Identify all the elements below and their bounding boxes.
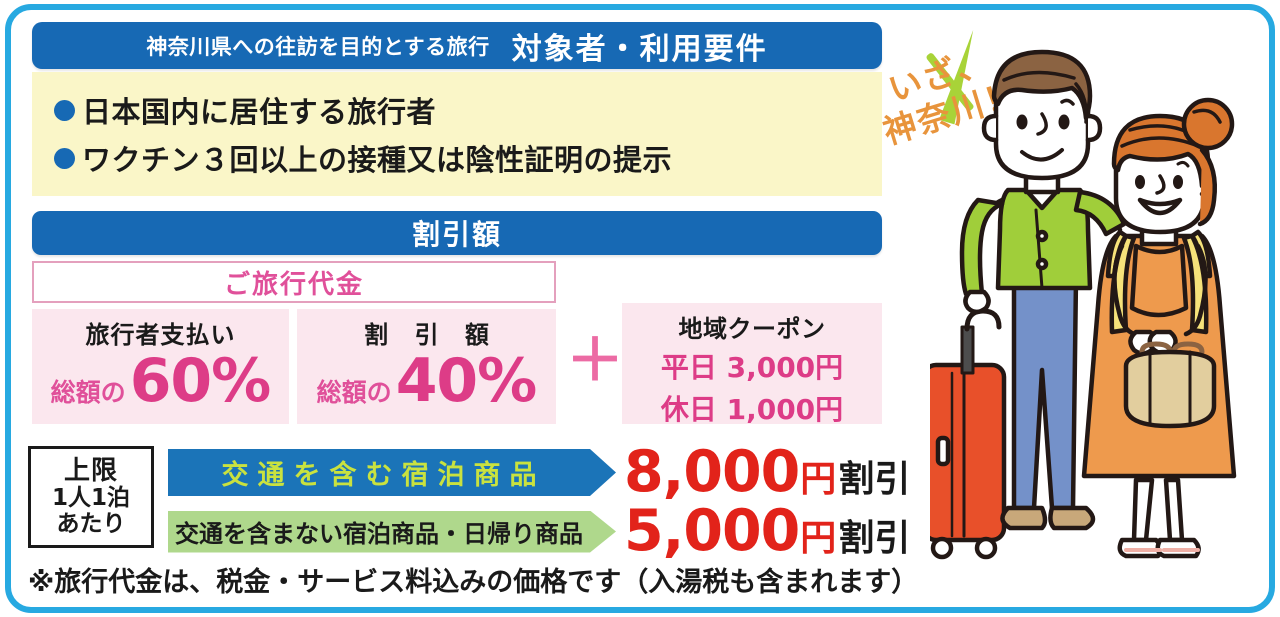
- offer-currency: 円: [800, 462, 836, 498]
- offer-price-with-transport: 8,000 円 割引: [624, 444, 910, 501]
- offer-amount: 8,000: [624, 444, 799, 501]
- handbag-icon: [1126, 344, 1214, 426]
- coupon-weekday-label: 平日: [661, 351, 717, 384]
- offer-row-with-transport: 交通を含む宿泊商品 8,000 円 割引: [168, 444, 910, 501]
- traveler-payment-percent: 60%: [130, 351, 271, 411]
- requirement-label: ワクチン３回以上の接種又は陰性証明の提示: [82, 137, 672, 179]
- footnote-text: ※旅行代金は、税金・サービス料込みの価格です（入湯税も含まれます）: [28, 560, 918, 599]
- suitcase-icon: [930, 311, 1004, 557]
- requirement-item: 日本国内に居住する旅行者: [54, 86, 882, 134]
- requirement-item: ワクチン３回以上の接種又は陰性証明の提示: [54, 134, 882, 182]
- discount-amount-value: 総額の 40%: [317, 351, 537, 411]
- content-column: 神奈川県への往訪を目的とする旅行 対象者・利用要件 日本国内に居住する旅行者 ワ…: [0, 0, 910, 617]
- discount-amount-title: 割 引 額: [355, 315, 498, 350]
- offer-banner-with-transport: 交通を含む宿泊商品: [168, 449, 616, 496]
- regional-coupon-panel: 地域クーポン 平日 3,000円 休日 1,000円: [622, 303, 882, 424]
- requirements-box: 日本国内に居住する旅行者 ワクチン３回以上の接種又は陰性証明の提示: [32, 72, 882, 196]
- cap-line-2: 1人1泊: [52, 486, 130, 512]
- discount-section-bar: 割引額: [32, 211, 882, 255]
- plus-icon: ＋: [566, 340, 612, 386]
- coupon-weekday-row: 平日 3,000円: [661, 346, 843, 386]
- traveler-payment-value: 総額の 60%: [51, 351, 271, 411]
- header-subtitle: 神奈川県への往訪を目的とする旅行: [146, 31, 489, 61]
- offer-row-without-transport: 交通を含まない宿泊商品・日帰り商品 5,000 円 割引: [168, 503, 910, 560]
- offer-banner-without-transport: 交通を含まない宿泊商品・日帰り商品: [168, 511, 616, 553]
- coupon-holiday-row: 休日 1,000円: [661, 388, 843, 428]
- coupon-weekday-amount: 3,000円: [727, 351, 844, 384]
- offer-amount: 5,000: [624, 503, 799, 560]
- offer-suffix: 割引: [838, 521, 910, 557]
- traveler-payment-panel: 旅行者支払い 総額の 60%: [32, 309, 289, 424]
- coupon-holiday-label: 休日: [661, 393, 717, 426]
- traveler-payment-prefix: 総額の: [51, 373, 126, 409]
- offer-currency: 円: [800, 521, 836, 557]
- discount-amount-panel: 割 引 額 総額の 40%: [297, 309, 556, 424]
- regional-coupon-title: 地域クーポン: [679, 309, 826, 344]
- cap-line-3: あたり: [57, 512, 126, 538]
- offer-price-without-transport: 5,000 円 割引: [624, 503, 910, 560]
- bullet-dot-icon: [54, 100, 75, 121]
- discount-amount-percent: 40%: [396, 351, 537, 411]
- traveler-payment-title: 旅行者支払い: [86, 315, 236, 350]
- fare-header: ご旅行代金: [32, 261, 556, 303]
- header-bar: 神奈川県への往訪を目的とする旅行 対象者・利用要件: [32, 22, 882, 69]
- traveling-couple-illustration: [930, 40, 1270, 610]
- offer-suffix: 割引: [838, 462, 910, 498]
- coupon-holiday-amount: 1,000円: [727, 393, 844, 426]
- header-title: 対象者・利用要件: [512, 24, 768, 68]
- cap-box: 上限 1人1泊 あたり: [28, 446, 154, 548]
- requirement-label: 日本国内に居住する旅行者: [82, 89, 436, 131]
- cap-line-1: 上限: [64, 457, 118, 486]
- bullet-dot-icon: [54, 148, 75, 169]
- discount-amount-prefix: 総額の: [317, 373, 392, 409]
- poster-root: 神奈川県への往訪を目的とする旅行 対象者・利用要件 日本国内に居住する旅行者 ワ…: [0, 0, 1280, 617]
